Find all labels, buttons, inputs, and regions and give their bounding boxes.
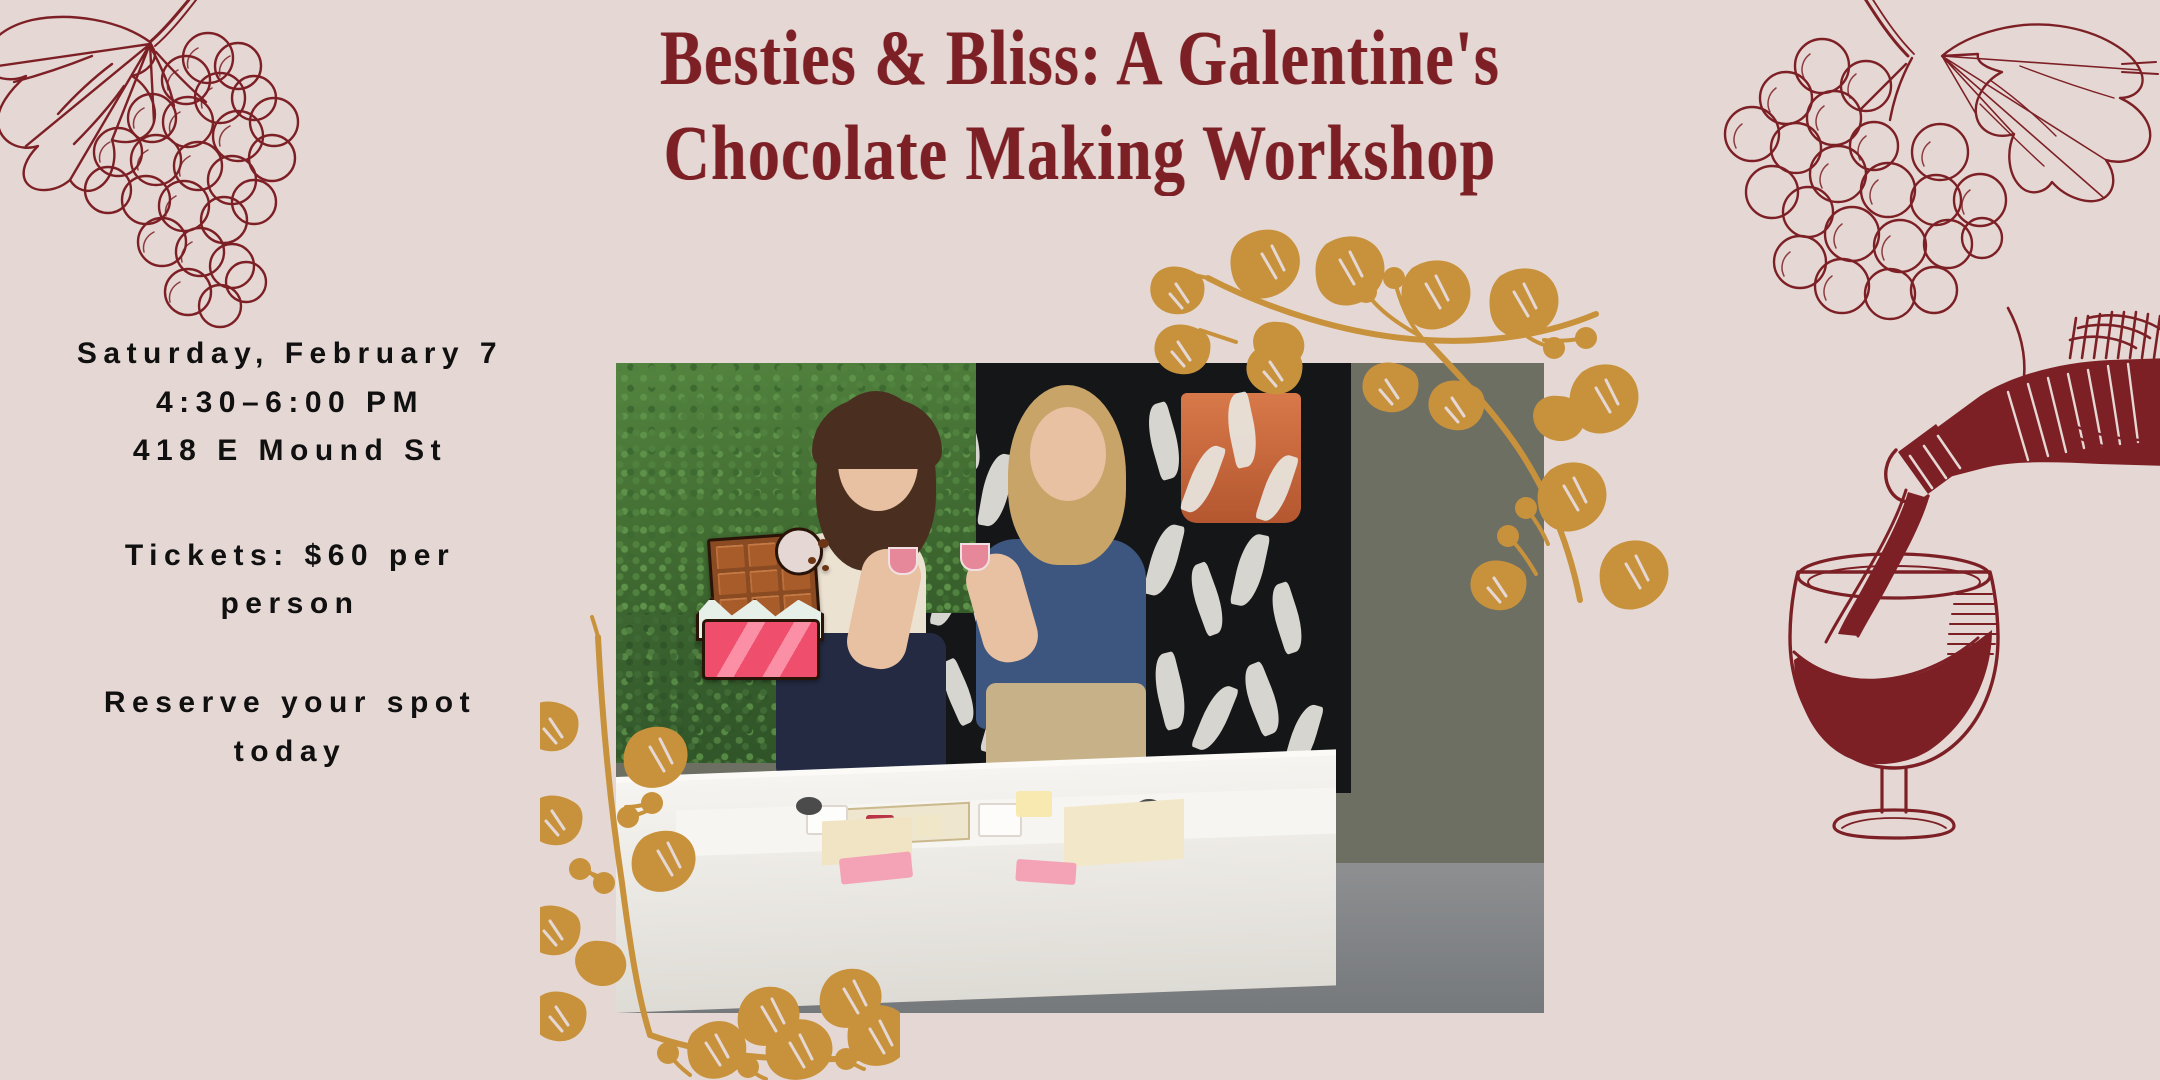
grape-cluster-icon xyxy=(1690,0,2160,324)
ticket-price-line-2: person xyxy=(0,580,580,629)
event-address: 418 E Mound St xyxy=(0,427,580,476)
chocolate-bar-sticker-icon xyxy=(696,535,824,680)
grape-cluster-icon xyxy=(0,0,322,334)
event-photo xyxy=(616,363,1544,1013)
title-line-2: Chocolate Making Workshop xyxy=(539,105,1621,200)
cta-line-1: Reserve your spot xyxy=(0,679,580,728)
event-time: 4:30–6:00 PM xyxy=(0,379,580,428)
wine-pour-icon xyxy=(1770,300,2160,840)
cta-line-2: today xyxy=(0,728,580,777)
title-line-1: Besties & Bliss: A Galentine's xyxy=(539,10,1621,105)
ticket-price-line-1: Tickets: $60 per xyxy=(0,532,580,581)
page-title: Besties & Bliss: A Galentine's Chocolate… xyxy=(420,10,1740,200)
event-details: Saturday, February 7 4:30–6:00 PM 418 E … xyxy=(0,330,580,776)
event-banner: Besties & Bliss: A Galentine's Chocolate… xyxy=(0,0,2160,1080)
event-date: Saturday, February 7 xyxy=(0,330,580,379)
